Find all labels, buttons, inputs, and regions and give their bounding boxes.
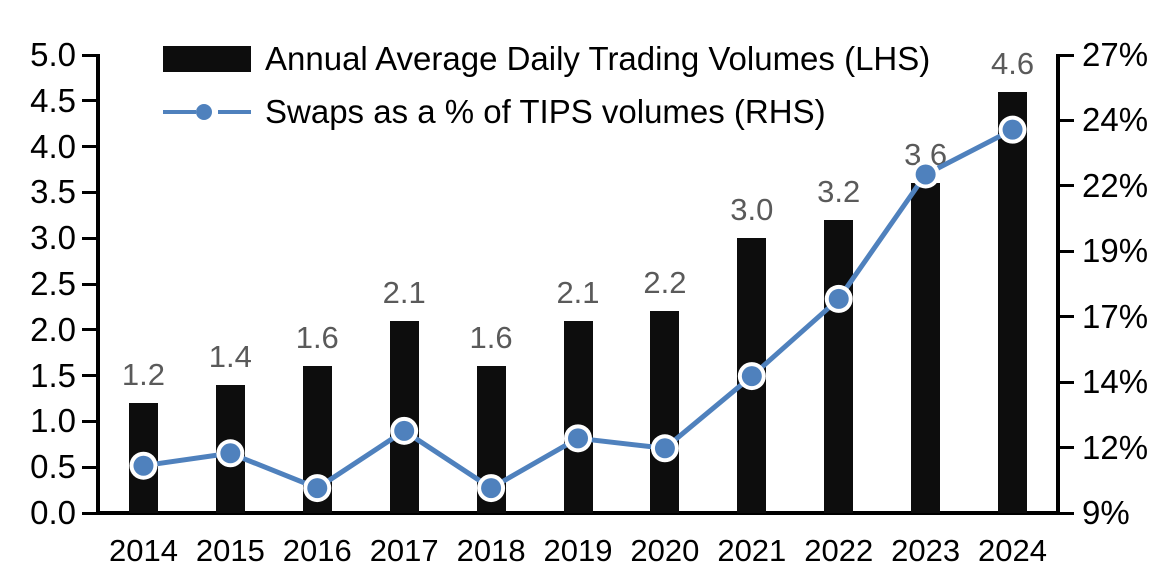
legend-item-bars: Annual Average Daily Trading Volumes (LH…: [163, 42, 930, 75]
line-marker: [481, 478, 501, 498]
x-axis-tick-label: 2024: [963, 535, 1063, 566]
x-axis-tick-label: 2014: [93, 535, 193, 566]
x-axis-tick-label: 2018: [441, 535, 541, 566]
legend-line-marker-icon: [163, 99, 251, 125]
x-axis-tick-label: 2015: [180, 535, 280, 566]
line-marker: [829, 289, 849, 309]
x-axis-tick-label: 2016: [267, 535, 367, 566]
x-axis-tick-label: 2022: [789, 535, 889, 566]
line-marker: [568, 428, 588, 448]
x-axis-tick-label: 2019: [528, 535, 628, 566]
line-marker: [742, 366, 762, 386]
x-axis-tick-label: 2023: [876, 535, 976, 566]
line-marker: [655, 438, 675, 458]
x-axis-tick-label: 2020: [615, 535, 715, 566]
chart-container: 0.00.51.01.52.02.53.03.54.04.55.0 9%12%1…: [0, 0, 1152, 584]
legend-item-line: Swaps as a % of TIPS volumes (RHS): [163, 95, 826, 128]
line-marker: [307, 478, 327, 498]
legend-label-bars: Annual Average Daily Trading Volumes (LH…: [265, 42, 930, 75]
line-marker: [394, 421, 414, 441]
legend-label-line: Swaps as a % of TIPS volumes (RHS): [265, 95, 826, 128]
line-marker: [916, 164, 936, 184]
x-axis-tick-label: 2021: [702, 535, 802, 566]
line-marker: [133, 456, 153, 476]
line-marker: [220, 443, 240, 463]
x-axis-tick-label: 2017: [354, 535, 454, 566]
line-series: [0, 0, 1152, 584]
line-marker: [1003, 120, 1023, 140]
legend-bar-swatch-icon: [163, 46, 251, 72]
